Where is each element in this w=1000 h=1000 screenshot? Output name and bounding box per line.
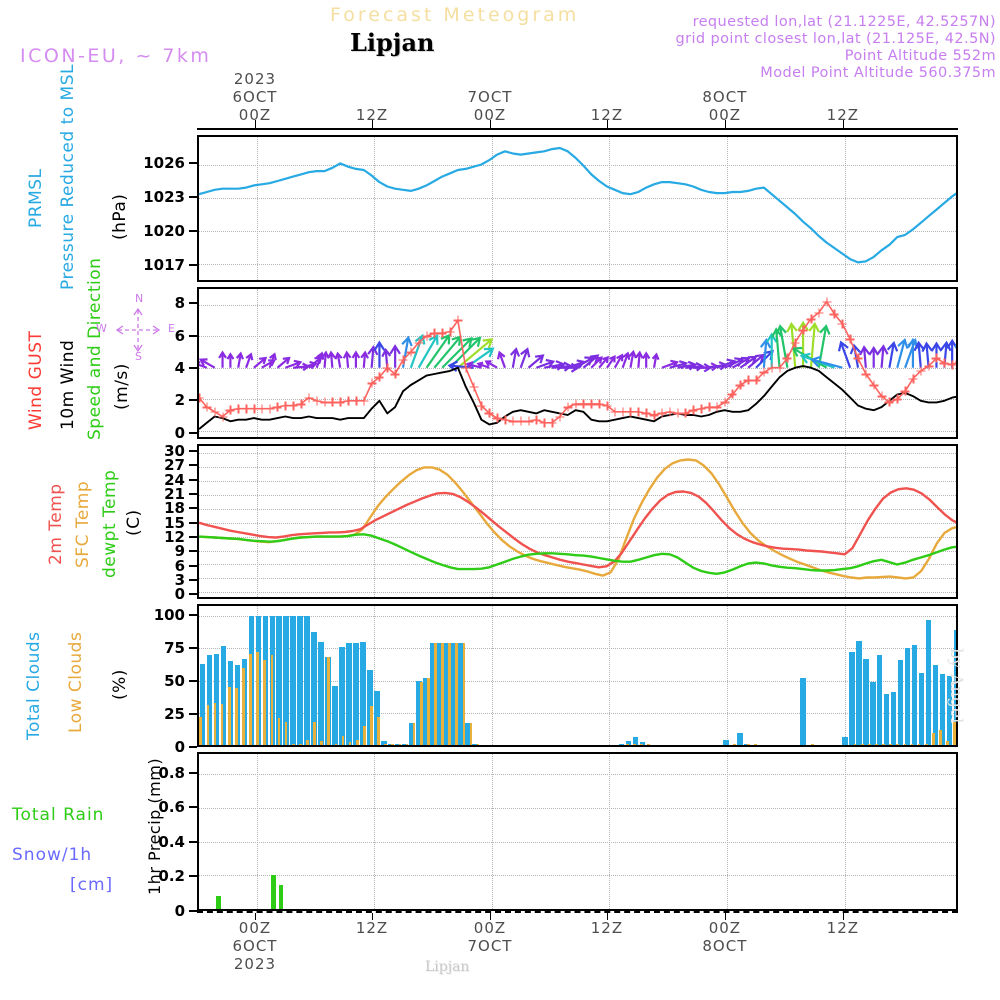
top-time-label: 12Z [356,106,388,124]
y-axis-tick [189,647,197,649]
gust-marker [838,319,847,328]
dewpt-line [199,446,956,597]
low-clouds-bar [868,744,871,745]
gust-marker [869,381,878,390]
top-time-label: 00Z [239,106,271,124]
top-time-label: 00Z [709,106,741,124]
low-clouds-bar [918,744,921,745]
total-clouds-bar [877,655,883,745]
bottom-time-label: 12Z [591,919,623,937]
pressure-line [199,137,956,280]
low-clouds-bar [896,744,899,745]
bottom-time-label: 12Z [827,919,859,937]
gust-line [199,289,956,437]
panel-clouds [197,604,958,747]
requested-lonlat: requested lon,lat (21.1225E, 42.5257N) [693,14,996,30]
low-clouds-bar [349,742,352,745]
y-axis-label: 1023 [143,188,185,206]
low-clouds-bar [633,744,636,745]
low-clouds-bar [320,741,323,745]
y-axis-tick [189,746,197,748]
pressure-label-prmsl: PRMSL [26,169,46,229]
gust-marker [406,347,415,356]
precip-label-rain: Total Rain [12,805,104,825]
y-axis-tick [189,450,197,452]
horizontal-gridline [199,808,956,809]
low-clouds-bar [292,744,295,745]
low-clouds-bar [441,643,444,745]
low-clouds-bar [932,733,935,745]
gust-marker [453,316,462,325]
y-axis-tick [189,264,197,266]
model-point-altitude: Model Point Altitude 560.375m [760,65,996,81]
gust-marker [830,310,839,319]
temp-label-sfc: SFC Temp [73,481,93,568]
y-axis-tick [189,399,197,401]
watermark: by Angel [946,648,966,724]
top-time-label: 12Z [827,106,859,124]
top-time-axis [197,128,958,130]
top-time-label: 6OCT [232,88,277,106]
compass-south: S [135,350,142,363]
panel-temperature [197,444,958,599]
bottom-time-label: 00Z [239,919,271,937]
total-clouds-bar [870,682,876,745]
low-clouds-bar [256,652,259,745]
low-clouds-bar [207,705,210,745]
total-clouds-bar [926,620,932,745]
low-clouds-bar [939,730,942,745]
gust-marker [861,370,870,379]
gust-marker [854,354,863,363]
wind-label-10m: 10m Wind [58,340,78,430]
low-clouds-bar [477,744,480,745]
total-clouds-bar [884,694,890,745]
low-clouds-bar [420,682,423,745]
low-clouds-bar [249,654,252,745]
compass-north: N [135,292,143,305]
y-axis-label: 0 [175,902,185,920]
total-clouds-bar [346,643,352,745]
horizontal-gridline [199,875,956,876]
low-clouds-bar [199,717,202,745]
gust-marker [783,354,792,363]
low-clouds-bar [235,688,238,745]
bottom-time-label: 6OCT [232,937,277,955]
model-label: ICON-EU, ~ 7km [20,45,211,67]
y-axis-tick [189,806,197,808]
y-axis-tick [189,536,197,538]
y-axis-label: 100 [154,606,185,624]
station-title: Lipjan [350,28,434,57]
temp-label-2m: 2m Temp [46,483,66,565]
pressure-label-full: Pressure Reduced to MSL [58,64,78,290]
compass-west: W [96,322,107,335]
total-clouds-bar [849,652,855,745]
low-clouds-bar [342,736,345,745]
gust-marker [924,362,933,371]
precip-label-snow: Snow/1h [12,845,92,865]
total-clouds-bar [353,643,359,745]
y-axis-tick [189,162,197,164]
forecast-meteogram-label: Forecast Meteogram [330,4,579,26]
low-clouds-bar [647,744,650,745]
y-axis-tick [189,196,197,198]
bottom-time-label: 12Z [356,919,388,937]
vertical-gridline [492,754,493,909]
total-clouds-bar [891,692,897,745]
top-time-label: 12Z [591,106,623,124]
temp-unit: (C) [124,509,144,536]
y-axis-tick [189,841,197,843]
y-axis-label: 2 [175,391,185,409]
vertical-gridline [727,754,728,909]
top-time-label: 8OCT [702,88,747,106]
panel-pressure [197,135,958,282]
y-axis-label: 25 [164,705,185,723]
low-clouds-bar [925,744,928,745]
station-footer: Lipjan [425,959,469,975]
y-axis-tick [189,910,197,912]
gust-marker [375,373,384,382]
gust-marker [956,357,957,366]
rain-bar [279,885,283,909]
y-axis-tick [189,493,197,495]
low-clouds-bar [335,744,338,745]
low-clouds-bar [434,643,437,745]
low-clouds-bar [754,744,757,745]
y-axis-tick [189,579,197,581]
temp-label-dewpt: dewpt Temp [100,470,120,578]
low-clouds-bar [399,744,402,745]
y-axis-label: 30 [164,442,185,460]
low-clouds-bar [640,744,643,745]
rain-bar [271,875,275,909]
y-axis-tick [189,522,197,524]
gust-marker [728,390,737,399]
y-axis-label: 1020 [143,222,185,240]
y-axis-tick [189,772,197,774]
horizontal-gridline [199,842,956,843]
low-clouds-bar [875,744,878,745]
vertical-gridline [609,754,610,909]
low-clouds-bar [946,741,949,745]
clouds-label-low: Low Clouds [66,632,86,733]
low-clouds-bar [861,744,864,745]
low-clouds-bar [911,744,914,745]
wind-compass-rose: N S W E [88,290,188,370]
low-clouds-bar [811,744,814,745]
low-clouds-bar [904,744,907,745]
clouds-unit: (%) [110,669,130,700]
bottom-time-label: 00Z [474,919,506,937]
gust-marker [901,387,910,396]
gust-marker [799,325,808,334]
horizontal-gridline [199,774,956,775]
gust-marker [461,363,470,372]
low-clouds-bar [889,744,892,745]
bottom-time-axis [197,911,958,913]
gust-marker [469,382,478,391]
low-clouds-bar [313,722,316,745]
y-axis-label: 0 [175,424,185,442]
low-clouds-bar [285,722,288,745]
y-axis-tick [189,464,197,466]
vertical-gridline [727,606,728,745]
vertical-gridline [609,606,610,745]
total-clouds-bar [339,647,345,745]
low-clouds-bar [363,726,366,745]
y-axis-label: 0 [175,738,185,756]
rain-bar [216,896,220,909]
gust-marker [822,297,831,306]
low-clouds-bar [427,678,430,745]
vertical-gridline [492,606,493,745]
total-clouds-bar [290,616,296,745]
total-clouds-bar [863,659,869,745]
total-clouds-bar [737,733,743,745]
low-clouds-bar [406,744,409,745]
precip-unit: 1hr Precip (mm) [145,758,164,895]
y-axis-tick [189,335,197,337]
y-axis-tick [189,875,197,877]
y-axis-tick [189,713,197,715]
low-clouds-bar [221,704,224,745]
gust-marker [446,327,455,336]
gust-marker [199,393,204,402]
clouds-label-total: Total Clouds [24,631,44,740]
y-axis-tick [189,507,197,509]
low-clouds-bar [278,718,281,745]
gust-marker [391,370,400,379]
low-clouds-bar [214,703,217,745]
low-clouds-bar [384,744,387,745]
total-clouds-bar [318,642,324,745]
top-time-label: 7OCT [467,88,512,106]
low-clouds-bar [263,660,266,745]
pressure-unit: (hPa) [110,194,130,240]
y-axis-tick [189,680,197,682]
gust-marker [720,398,729,407]
total-clouds-bar [332,686,338,745]
total-clouds-bar [898,660,904,745]
precip-label-cm: [cm] [70,875,113,895]
gust-marker [846,335,855,344]
bottom-time-label: 8OCT [702,937,747,955]
low-clouds-bar [299,744,302,745]
low-clouds-bar [953,722,956,745]
gust-marker [775,363,784,372]
y-axis-tick [189,593,197,595]
low-clouds-bar [306,740,309,745]
panel-precip [197,752,958,911]
wind-label-gust: Wind GUST [26,331,46,430]
low-clouds-bar [882,744,885,745]
top-time-label: 2023 [234,70,276,88]
low-clouds-bar [356,740,359,745]
compass-east: E [168,322,175,335]
gust-marker [555,412,564,421]
y-axis-tick [189,479,197,481]
total-clouds-bar [842,737,848,745]
panel-wind [197,287,958,439]
y-axis-label: 50 [164,672,185,690]
total-clouds-bar [297,616,303,745]
low-clouds-bar [733,744,736,745]
low-clouds-bar [463,643,466,745]
low-clouds-bar [228,687,231,745]
low-clouds-bar [391,744,394,745]
gust-marker [908,374,917,383]
y-axis-label: 1026 [143,154,185,172]
total-clouds-bar [800,678,806,745]
bottom-time-label: 00Z [709,919,741,937]
y-axis-tick [189,230,197,232]
low-clouds-bar [626,744,629,745]
y-axis-tick [189,367,197,369]
vertical-gridline [845,754,846,909]
gust-marker [791,338,800,347]
y-axis-tick [189,432,197,434]
low-clouds-bar [747,744,750,745]
bottom-time-label: 2023 [234,955,276,973]
y-axis-tick [189,614,197,616]
y-axis-label: 1017 [143,256,185,274]
gust-marker [398,355,407,364]
y-axis-tick [189,565,197,567]
low-clouds-bar [370,706,373,745]
low-clouds-bar [377,717,380,745]
low-clouds-bar [470,723,473,745]
total-clouds-bar [304,616,310,745]
y-axis-tick [189,550,197,552]
y-axis-label: 75 [164,639,185,657]
low-clouds-bar [455,643,458,745]
total-clouds-bar [919,673,925,745]
top-time-label: 00Z [474,106,506,124]
low-clouds-bar [271,655,274,745]
gust-marker [893,395,902,404]
grid-point-lonlat: grid point closest lon,lat (21.125E, 42.… [676,31,996,47]
gust-marker [752,376,761,385]
total-clouds-bar [912,645,918,745]
low-clouds-bar [327,657,330,745]
low-clouds-bar [854,744,857,745]
gust-marker [359,396,368,405]
low-clouds-bar [448,643,451,745]
total-clouds-bar [856,641,862,745]
vertical-gridline [374,754,375,909]
vertical-gridline [257,754,258,909]
total-clouds-bar [905,648,911,745]
gust-marker [814,308,823,317]
total-clouds-bar [723,740,729,745]
horizontal-gridline [199,616,956,617]
low-clouds-bar [242,668,245,745]
bottom-time-label: 7OCT [467,937,512,955]
total-clouds-bar [619,744,625,745]
y-axis-tick [189,302,197,304]
point-altitude: Point Altitude 552m [845,48,996,64]
low-clouds-bar [413,723,416,745]
wind-unit: (m/s) [112,363,132,410]
vertical-gridline [845,606,846,745]
